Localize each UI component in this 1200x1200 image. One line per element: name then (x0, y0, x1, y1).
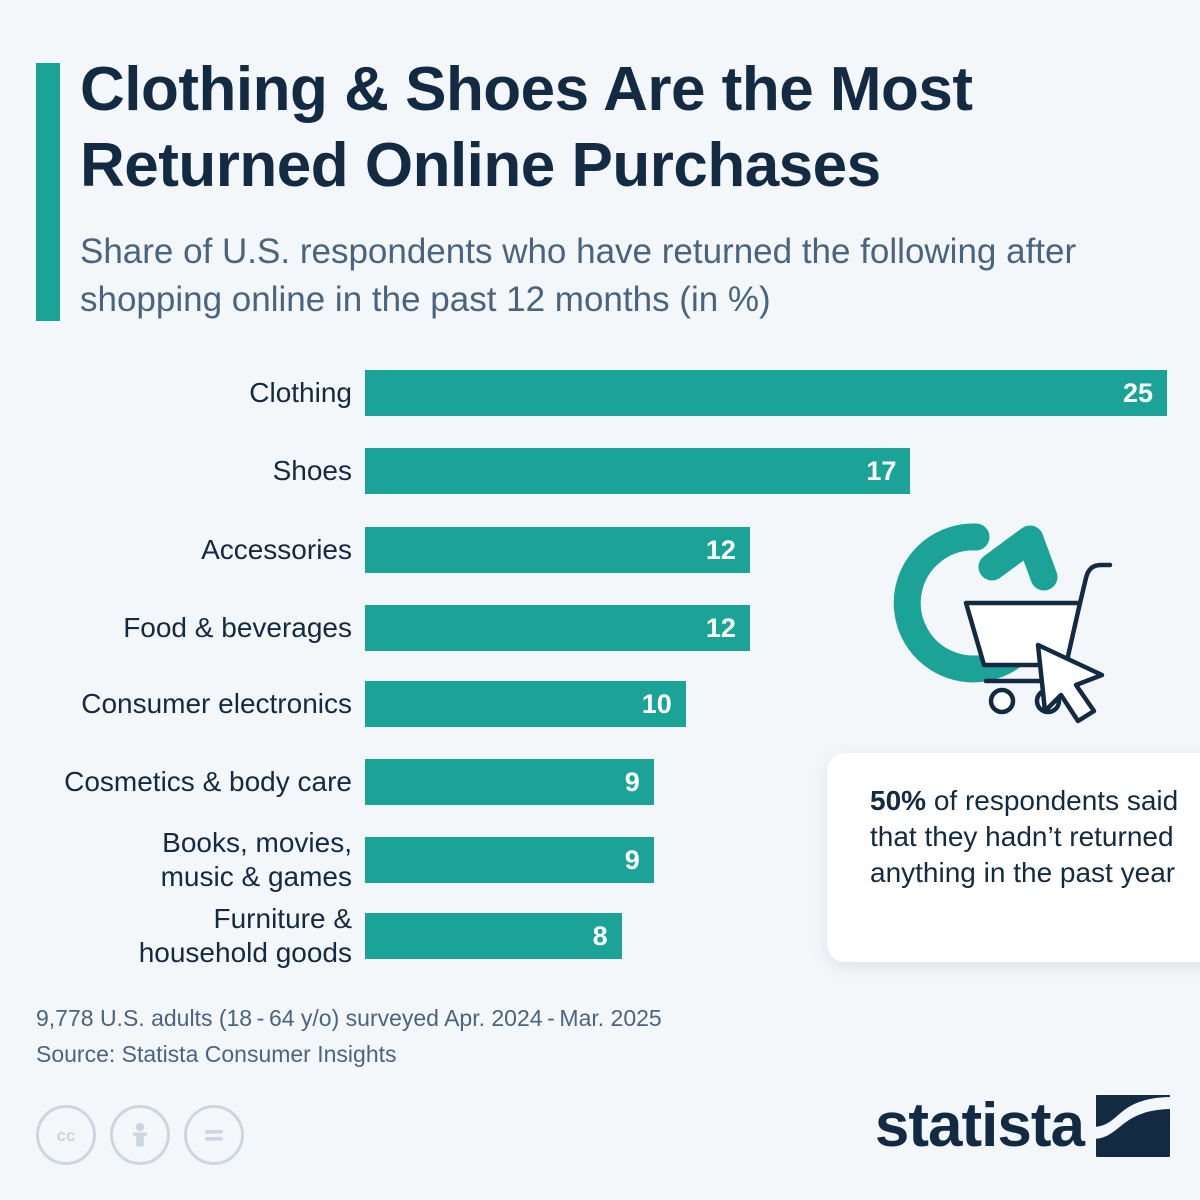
survey-footnote: 9,778 U.S. adults (18 - 64 y/o) surveyed… (36, 1000, 662, 1036)
bar-value-label: 9 (625, 845, 654, 876)
bar: 8 (365, 913, 622, 959)
no-derivatives-equals-icon (184, 1105, 244, 1165)
bar-row: Shoes17 (0, 448, 1200, 494)
bar: 12 (365, 605, 750, 651)
bar-category-label: Food & beverages (0, 611, 352, 645)
accent-bar (36, 63, 60, 321)
statista-wordmark: statista (875, 1095, 1084, 1157)
bar-category-label: Shoes (0, 454, 352, 488)
attribution-person-icon (110, 1105, 170, 1165)
bar: 25 (365, 370, 1167, 416)
bar-category-label: Clothing (0, 376, 352, 410)
cc-icon: cc (36, 1105, 96, 1165)
license-icons: cc (36, 1105, 244, 1165)
bar-category-label: Consumer electronics (0, 687, 352, 721)
statista-mark-icon (1096, 1095, 1170, 1157)
bar: 10 (365, 681, 686, 727)
bar-value-label: 12 (706, 613, 750, 644)
bar-value-label: 8 (593, 921, 622, 952)
page-title: Clothing & Shoes Are the Most Returned O… (80, 52, 1170, 204)
bar-value-label: 12 (706, 535, 750, 566)
bar-value-label: 9 (625, 767, 654, 798)
bar-category-label: Furniture & household goods (0, 902, 352, 970)
bar: 9 (365, 759, 654, 805)
statista-logo: statista (875, 1095, 1170, 1157)
bar-value-label: 25 (1123, 378, 1167, 409)
callout-highlight: 50% (870, 785, 926, 816)
page-subtitle: Share of U.S. respondents who have retur… (80, 228, 1180, 324)
return-shopping-cart-illustration (880, 515, 1160, 745)
source-note: Source: Statista Consumer Insights (36, 1036, 397, 1072)
callout-text: 50% of respondents said that they hadn’t… (870, 783, 1180, 891)
bar-value-label: 10 (642, 689, 686, 720)
infographic-canvas: Clothing & Shoes Are the Most Returned O… (0, 0, 1200, 1200)
bar-category-label: Books, movies, music & games (0, 826, 352, 894)
bar-row: Clothing25 (0, 370, 1200, 416)
callout-box: 50% of respondents said that they hadn’t… (827, 753, 1200, 962)
bar-value-label: 17 (866, 456, 910, 487)
bar: 12 (365, 527, 750, 573)
svg-text:cc: cc (57, 1126, 76, 1145)
header: Clothing & Shoes Are the Most Returned O… (0, 0, 1200, 340)
bar-category-label: Accessories (0, 533, 352, 567)
bar-category-label: Cosmetics & body care (0, 765, 352, 799)
bar: 9 (365, 837, 654, 883)
bar: 17 (365, 448, 910, 494)
